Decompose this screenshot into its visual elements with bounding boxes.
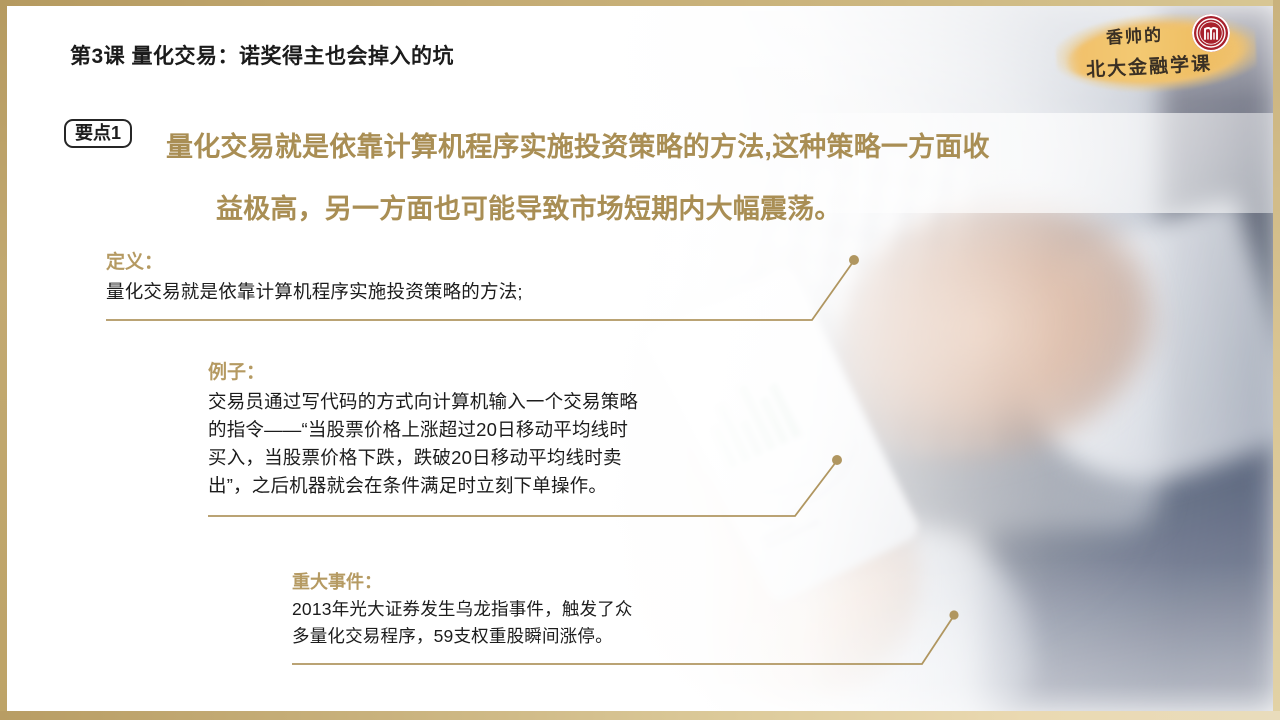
block-caption-colon: ： <box>144 252 163 273</box>
peking-university-seal-icon <box>1192 14 1230 52</box>
frame-left-border <box>0 0 7 720</box>
headline: 量化交易就是依靠计算机程序实施投资策略的方法,这种策略一方面收 益极高，另一方面… <box>166 116 1156 240</box>
frame-right-border <box>1273 0 1280 720</box>
block-body-definition: 量化交易就是依靠计算机程序实施投资策略的方法; <box>106 278 806 306</box>
logo-line-2: 北大金融学课 <box>1085 49 1212 83</box>
key-point-badge: 要点1 <box>64 119 132 148</box>
headline-line-1: 量化交易就是依靠计算机程序实施投资策略的方法,这种策略一方面收 <box>166 132 990 162</box>
content-block-major-event: 重大事件： 2013年光大证券发生乌龙指事件，触发了众 多量化交易程序，59支权… <box>292 570 822 650</box>
frame-top-border <box>0 0 1280 6</box>
block-caption-text: 例子 <box>208 362 246 383</box>
block-body-major-event: 2013年光大证券发生乌龙指事件，触发了众 多量化交易程序，59支权重股瞬间涨停… <box>292 596 822 650</box>
content-block-example: 例子： 交易员通过写代码的方式向计算机输入一个交易策略 的指令——“当股票价格上… <box>208 360 828 500</box>
block-caption-example: 例子： <box>208 360 828 386</box>
block-body-example: 交易员通过写代码的方式向计算机输入一个交易策略 的指令——“当股票价格上涨超过2… <box>208 388 828 500</box>
headline-line-2: 益极高，另一方面也可能导致市场短期内大幅震荡。 <box>166 178 1156 240</box>
logo-text: 香帅的 北大金融学课 <box>1052 6 1262 98</box>
course-logo: 香帅的 北大金融学课 <box>1052 6 1262 98</box>
logo-line-1: 香帅的 <box>1105 21 1163 49</box>
page-title: 第3课 量化交易：诺奖得主也会掉入的坑 <box>70 40 454 70</box>
block-caption-colon: ： <box>364 572 382 592</box>
slide-canvas: 第3课 量化交易：诺奖得主也会掉入的坑 香帅的 北大金融学课 要点1 量化交易就… <box>0 0 1280 720</box>
block-caption-text: 定义 <box>106 252 144 273</box>
frame-bottom-border <box>0 711 1280 720</box>
block-caption-definition: 定义： <box>106 250 806 276</box>
content-block-definition: 定义： 量化交易就是依靠计算机程序实施投资策略的方法; <box>106 250 806 306</box>
block-caption-colon: ： <box>246 362 265 383</box>
block-caption-text: 重大事件 <box>292 572 364 592</box>
block-caption-major-event: 重大事件： <box>292 570 822 594</box>
